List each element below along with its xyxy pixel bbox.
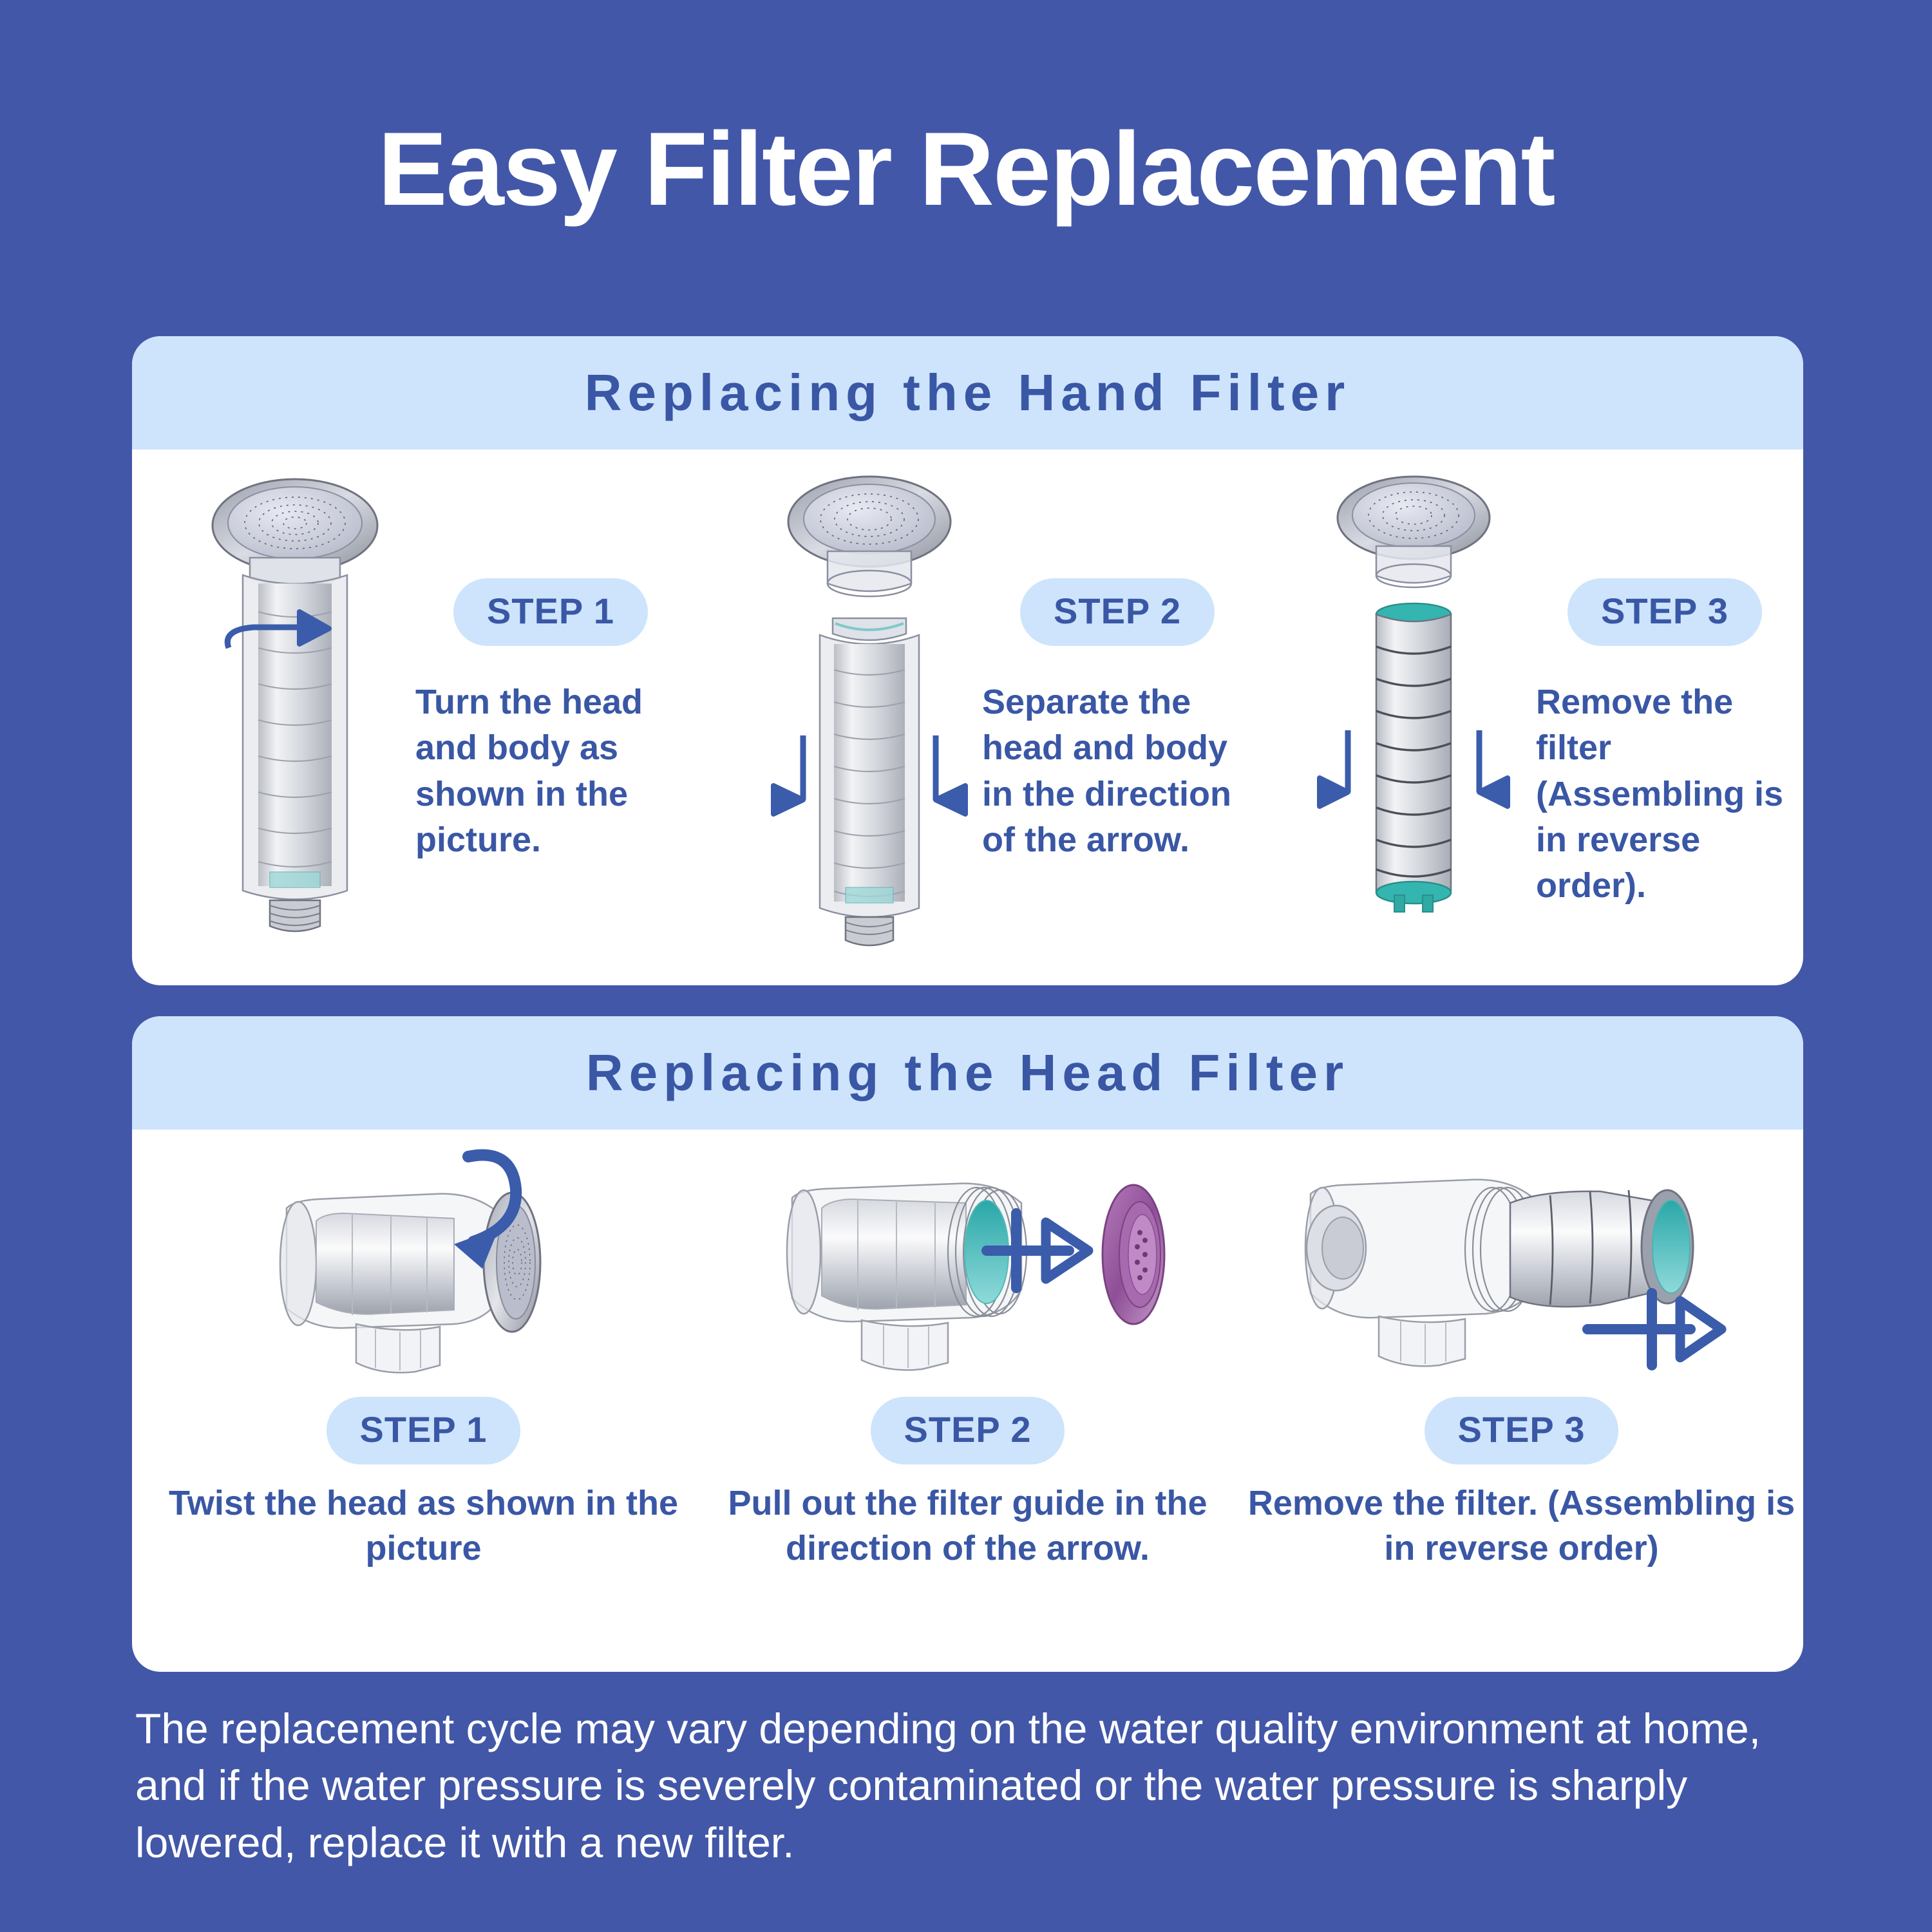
section-head-filter-title: Replacing the Head Filter: [586, 1043, 1349, 1103]
head-step-2-badge: STEP 2: [871, 1397, 1065, 1464]
section-hand-filter: Replacing the Hand Filter: [132, 336, 1803, 985]
head-step-1-badge-wrap: STEP 1: [151, 1397, 696, 1464]
head-step-3: STEP 3 Remove the filter. (Assembling is…: [1240, 1130, 1803, 1672]
hand-step-1-badge: STEP 1: [453, 578, 648, 646]
head-step-3-badge: STEP 3: [1425, 1397, 1619, 1464]
hand-step-2-badge: STEP 2: [1020, 578, 1215, 646]
head-step-1-illustration: [151, 1136, 696, 1394]
section-hand-filter-header: Replacing the Hand Filter: [132, 336, 1803, 450]
head-step-1: STEP 1 Twist the head as shown in the pi…: [151, 1130, 696, 1672]
hand-step-2-caption: Separate the head and body in the direct…: [982, 679, 1253, 863]
head-step-1-badge: STEP 1: [327, 1397, 521, 1464]
hand-step-1-caption: Turn the head and body as shown in the p…: [415, 679, 686, 863]
down-arrow-right-icon: [1479, 730, 1508, 806]
page-title: Easy Filter Replacement: [0, 115, 1932, 224]
hand-step-3-badge: STEP 3: [1567, 578, 1762, 646]
section-head-filter-body: STEP 1 Twist the head as shown in the pi…: [132, 1130, 1803, 1672]
hand-step-2-illustration: [763, 475, 976, 952]
hand-step-3-illustration: [1317, 475, 1536, 939]
hand-step-3: STEP 3 Remove the filter (Assembling is …: [1265, 450, 1803, 985]
head-step-2: STEP 2 Pull out the filter guide in the …: [696, 1130, 1240, 1672]
hand-step-1-illustration: [203, 475, 390, 952]
head-step-3-illustration: [1240, 1136, 1803, 1394]
head-step-2-badge-wrap: STEP 2: [696, 1397, 1240, 1464]
hand-step-1: STEP 1 Turn the head and body as shown i…: [132, 450, 699, 985]
hand-step-2-text: STEP 2 Separate the head and body in the…: [982, 578, 1253, 863]
section-hand-filter-body: STEP 1 Turn the head and body as shown i…: [132, 450, 1803, 985]
hand-step-3-caption: Remove the filter (Assembling is in reve…: [1536, 679, 1794, 909]
head-step-3-caption: Remove the filter. (Assembling is in rev…: [1240, 1481, 1803, 1571]
down-arrow-right-icon: [936, 735, 965, 814]
head-step-1-caption: Twist the head as shown in the picture: [151, 1481, 696, 1571]
pull-arrow-icon: [1587, 1293, 1721, 1365]
head-step-2-caption: Pull out the filter guide in the directi…: [696, 1481, 1240, 1571]
section-head-filter: Replacing the Head Filter: [132, 1016, 1803, 1672]
head-step-3-badge-wrap: STEP 3: [1240, 1397, 1803, 1464]
section-head-filter-header: Replacing the Head Filter: [132, 1016, 1803, 1130]
infographic-page: Easy Filter Replacement Replacing the Ha…: [0, 0, 1932, 1932]
down-arrow-left-icon: [773, 735, 803, 814]
hand-step-1-text: STEP 1 Turn the head and body as shown i…: [415, 578, 686, 863]
footer-note: The replacement cycle may vary depending…: [135, 1700, 1823, 1871]
hand-step-3-text: STEP 3 Remove the filter (Assembling is …: [1536, 578, 1794, 909]
down-arrow-left-icon: [1320, 730, 1348, 806]
head-step-2-illustration: [696, 1136, 1240, 1394]
section-hand-filter-title: Replacing the Hand Filter: [585, 363, 1351, 422]
hand-step-2: STEP 2 Separate the head and body in the…: [699, 450, 1265, 985]
